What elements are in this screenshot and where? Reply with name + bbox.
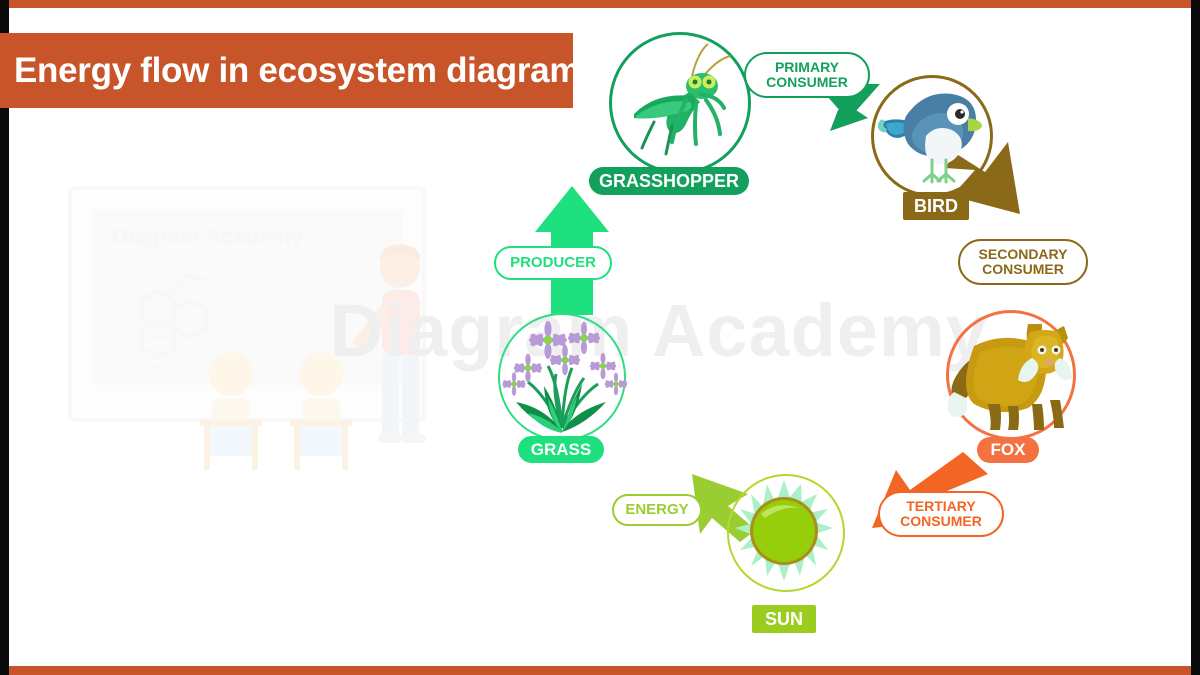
fox-icon — [940, 312, 1080, 434]
label-energy[interactable]: ENERGY — [612, 494, 702, 526]
label-fox[interactable]: FOX — [977, 437, 1039, 463]
label-tertiary-consumer[interactable]: TERTIARY CONSUMER — [878, 491, 1004, 537]
grass-flowers-icon — [492, 306, 632, 438]
label-grass[interactable]: GRASS — [518, 436, 604, 463]
label-primary-consumer[interactable]: PRIMARY CONSUMER — [744, 52, 870, 98]
primary-consumer-line1: PRIMARY — [775, 60, 839, 75]
bottom-accent-bar — [0, 666, 1200, 675]
sun-icon — [733, 480, 835, 582]
diagram-page: Diagram Academy — [0, 0, 1200, 675]
label-sun[interactable]: SUN — [752, 605, 816, 633]
label-producer[interactable]: PRODUCER — [494, 246, 612, 280]
right-edge-strip — [1191, 0, 1200, 675]
student-figure-icon — [186, 346, 276, 476]
bird-icon — [876, 82, 986, 186]
tertiary-consumer-line2: CONSUMER — [900, 514, 982, 529]
secondary-consumer-line1: SECONDARY — [979, 247, 1068, 262]
watermark-board-title: Diagram Academy — [112, 224, 303, 250]
title-banner: Energy flow in ecosystem diagram — [0, 33, 573, 108]
top-accent-bar — [0, 0, 1200, 8]
secondary-consumer-line2: CONSUMER — [982, 262, 1064, 277]
grasshopper-icon — [614, 38, 740, 162]
watermark-board-line — [146, 365, 162, 369]
watermark-board-line — [146, 350, 178, 354]
primary-consumer-line2: CONSUMER — [766, 75, 848, 90]
label-bird[interactable]: BIRD — [903, 192, 969, 220]
tertiary-consumer-line1: TERTIARY — [906, 499, 975, 514]
watermark-board-line — [146, 336, 178, 340]
label-grasshopper[interactable]: GRASSHOPPER — [589, 167, 749, 195]
page-title: Energy flow in ecosystem diagram — [14, 51, 580, 91]
label-secondary-consumer[interactable]: SECONDARY CONSUMER — [958, 239, 1088, 285]
